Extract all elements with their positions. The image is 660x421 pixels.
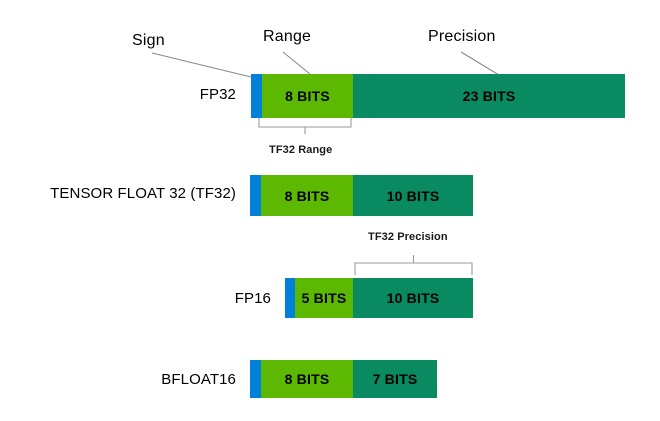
bar-tf32-segment-range: 8 BITS bbox=[261, 175, 353, 216]
bar-fp16: 5 BITS 10 BITS bbox=[285, 278, 473, 318]
bar-tf32-segment-sign bbox=[250, 175, 261, 216]
bar-fp16-segment-precision: 10 BITS bbox=[353, 278, 473, 318]
range-leader bbox=[283, 52, 310, 74]
tf32-precision-brace bbox=[355, 255, 472, 275]
bar-bfloat16-segment-precision: 7 BITS bbox=[353, 360, 437, 398]
precision-leader bbox=[461, 52, 499, 75]
row-label-fp32: FP32 bbox=[110, 86, 236, 103]
annotation-range: Range bbox=[263, 28, 311, 46]
bar-bfloat16: 8 BITS 7 BITS bbox=[250, 360, 437, 398]
bar-tf32-segment-precision: 10 BITS bbox=[353, 175, 473, 216]
bar-fp32: 8 BITS 23 BITS bbox=[251, 74, 625, 118]
bit-format-diagram: Sign Range Precision FP32 8 BITS 23 BITS… bbox=[0, 0, 660, 421]
row-label-bfloat16: BFLOAT16 bbox=[80, 371, 236, 388]
bar-fp16-segment-sign bbox=[285, 278, 295, 318]
brace-label-tf32-precision: TF32 Precision bbox=[368, 231, 448, 243]
bar-bfloat16-segment-sign bbox=[250, 360, 261, 398]
bar-fp16-segment-range: 5 BITS bbox=[295, 278, 353, 318]
bar-tf32: 8 BITS 10 BITS bbox=[250, 175, 473, 216]
bar-fp32-segment-range: 8 BITS bbox=[262, 74, 353, 118]
row-label-tf32: TENSOR FLOAT 32 (TF32) bbox=[20, 185, 236, 202]
bar-fp32-segment-precision: 23 BITS bbox=[353, 74, 625, 118]
annotation-sign: Sign bbox=[132, 32, 165, 50]
row-label-fp16: FP16 bbox=[115, 290, 271, 307]
bar-fp32-segment-sign bbox=[251, 74, 262, 118]
annotation-precision: Precision bbox=[428, 28, 496, 46]
bar-bfloat16-segment-range: 8 BITS bbox=[261, 360, 353, 398]
tf32-range-brace bbox=[259, 116, 351, 134]
brace-label-tf32-range: TF32 Range bbox=[269, 144, 332, 156]
sign-leader bbox=[152, 53, 251, 77]
